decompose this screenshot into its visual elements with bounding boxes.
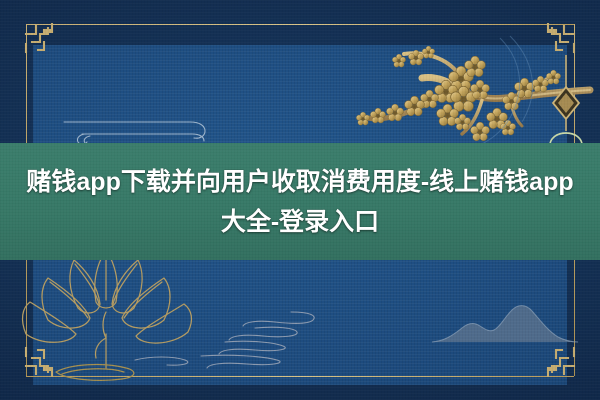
title-band: 赌钱app下载并向用户收取消费用度-线上赌钱app大全-登录入口: [0, 143, 600, 260]
water-ripple-icon: [105, 310, 320, 372]
banner-canvas: 赌钱app下载并向用户收取消费用度-线上赌钱app大全-登录入口: [0, 0, 600, 400]
frame-line-top: [26, 24, 574, 25]
mountain-silhouette-icon: [430, 300, 580, 345]
fret-corner-icon: [22, 20, 68, 66]
page-title: 赌钱app下载并向用户收取消费用度-线上赌钱app大全-登录入口: [12, 162, 588, 242]
